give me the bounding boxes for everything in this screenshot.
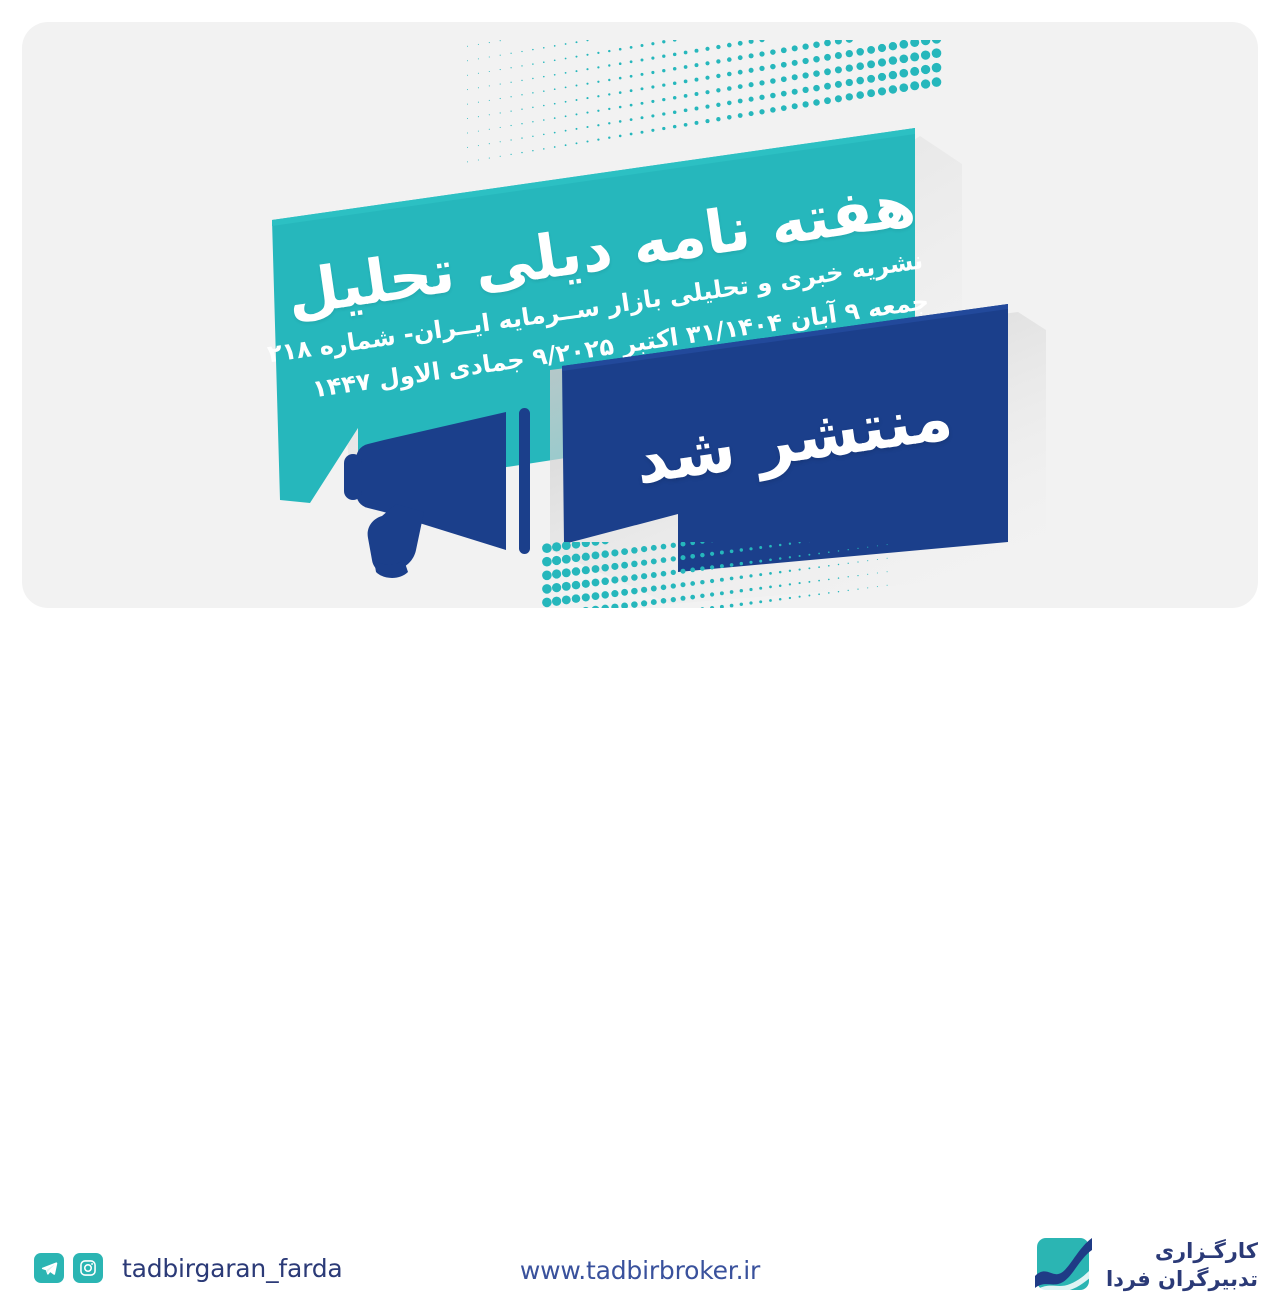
- poster-card: هفته نامه دیلی تحلیل نشریه خبری و تحلیلی…: [22, 22, 1258, 608]
- brand-line-2: تدبیرگران فردا: [1106, 1265, 1258, 1293]
- brand-text: کارگـزاری تدبیرگران فردا: [1106, 1237, 1258, 1293]
- chart-arrow-logo-icon: [1030, 1232, 1096, 1298]
- footer-bar: tadbirgaran_farda www.tadbirbroker.ir کا…: [0, 608, 1280, 720]
- megaphone-icon: [338, 400, 558, 590]
- poster-canvas: هفته نامه دیلی تحلیل نشریه خبری و تحلیلی…: [0, 0, 1280, 720]
- brand-line-1: کارگـزاری: [1106, 1237, 1258, 1265]
- brand-lockup[interactable]: کارگـزاری تدبیرگران فردا: [1030, 1232, 1258, 1298]
